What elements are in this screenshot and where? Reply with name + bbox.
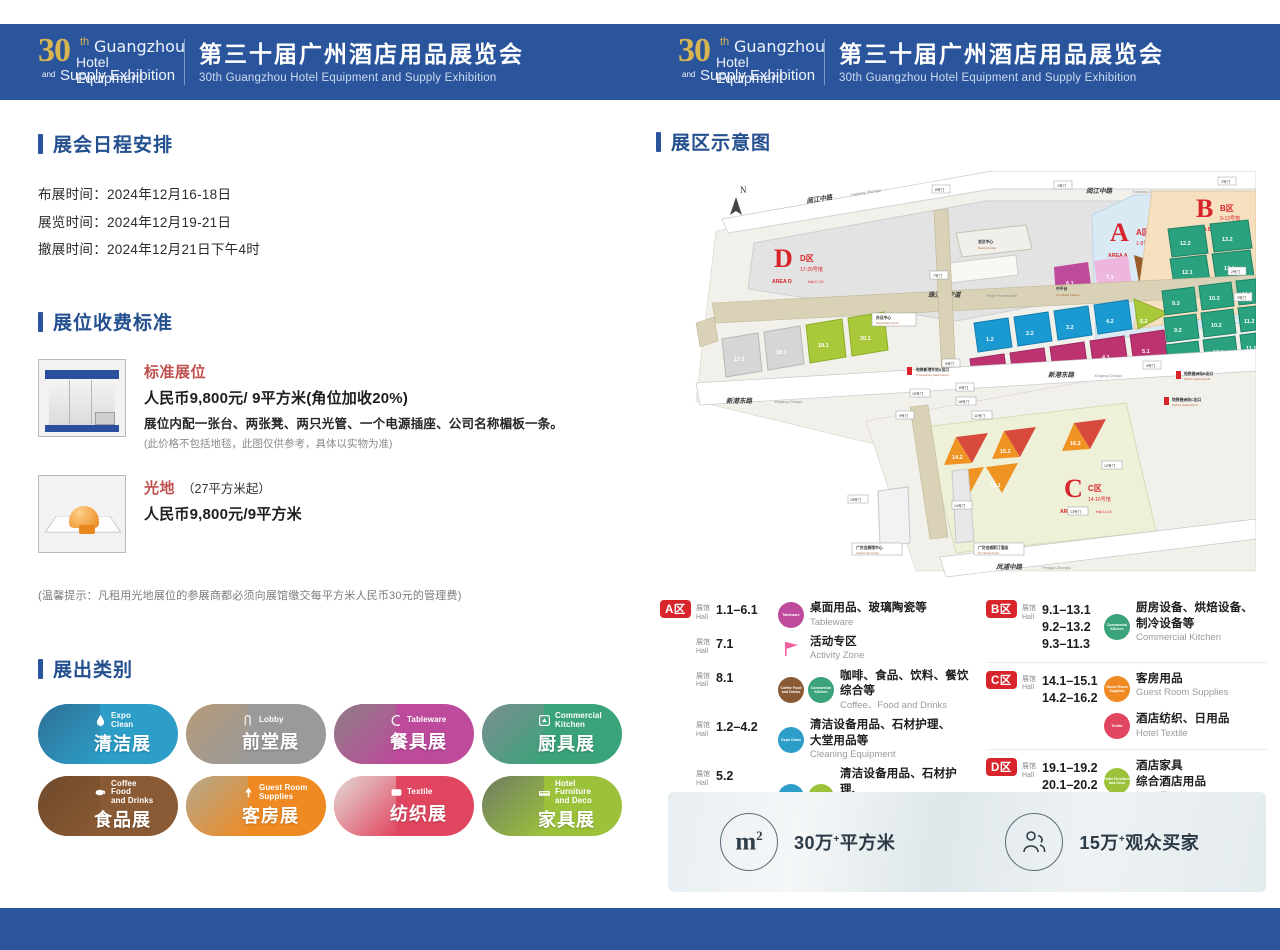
svg-text:15.2: 15.2 <box>1000 449 1011 455</box>
legend-desc-en: Commercial Kitchen <box>1136 632 1268 644</box>
category-text: Guest RoomSupplies客房展 <box>242 776 318 836</box>
svg-text:12号门: 12号门 <box>1104 463 1116 468</box>
svg-text:2号门: 2号门 <box>1231 269 1241 274</box>
schedule-row-show: 展览时间：2024年12月19-21日 <box>38 209 638 237</box>
standard-booth-price: 人民币9,800元/ 9平方米(角位加收20%) <box>144 387 563 408</box>
map-heading: 展区示意图 <box>656 128 1256 155</box>
category-label-en: Lobby <box>259 716 284 725</box>
exhibition-area-map[interactable]: .rd { fill:#ffffff; stroke:#c9c9c9; stro… <box>656 171 1256 581</box>
svg-text:5.1: 5.1 <box>1142 349 1150 355</box>
category-label-cn: 前堂展 <box>242 728 318 754</box>
plate-icon <box>390 714 403 727</box>
svg-text:13.2: 13.2 <box>1222 237 1233 243</box>
fee-item-standard-booth: 标准展位 人民币9,800元/ 9平方米(角位加收20%) 展位内配一张台、两张… <box>38 359 638 451</box>
svg-text:7.1: 7.1 <box>1106 275 1114 281</box>
raw-space-price: 人民币9,800元/9平方米 <box>144 503 302 524</box>
svg-text:会议中心: 会议中心 <box>978 239 993 244</box>
heading-accent-bar <box>656 132 661 152</box>
svg-text:AREA D: AREA D <box>772 279 792 285</box>
svg-text:16号门: 16号门 <box>958 399 970 404</box>
standard-booth-note: (此价格不包括地毯，此图仅供参考，具体以实物为准) <box>144 436 563 451</box>
legend-desc-cn: 桌面用品、玻璃陶瓷等 <box>810 601 978 617</box>
legend-hall-numbers: 14.1–15.114.2–16.2 <box>1042 672 1104 707</box>
svg-text:地铁琶洲站C出口: 地铁琶洲站C出口 <box>1172 397 1202 402</box>
svg-text:18.1: 18.1 <box>776 350 787 356</box>
svg-text:12.2: 12.2 <box>1180 241 1191 247</box>
svg-text:3号门: 3号门 <box>1237 295 1247 300</box>
zone-badge-text: A区 <box>660 600 691 618</box>
legend-desc-cn: 客房用品 <box>1136 672 1268 688</box>
zone-badge-text: D区 <box>986 758 1017 776</box>
droplet-icon <box>94 714 107 727</box>
raw-space-image <box>38 475 126 553</box>
logo-number: 30 <box>38 32 70 70</box>
svg-text:Hall 17-20: Hall 17-20 <box>808 280 824 284</box>
logo-line-supply-exhibition: Supply Exhibition <box>700 67 815 84</box>
legend-hall-label: 展馆Hall <box>696 601 716 629</box>
people-icon-svg <box>1019 827 1049 857</box>
legend-desc-en: Tableware <box>810 617 978 629</box>
zone-badge-text: C区 <box>986 671 1017 689</box>
category-text: ExpoClean清洁展 <box>94 704 170 764</box>
stat-area-label: 30万+平方米 <box>794 829 895 855</box>
heading-accent-bar <box>38 659 43 679</box>
svg-text:Meeting Center: Meeting Center <box>978 246 996 250</box>
header-brand-left: 30 th Guangzhou Hotel Equipment and Supp… <box>0 24 640 100</box>
fees-heading: 展位收费标准 <box>38 308 638 335</box>
svg-text:9号门: 9号门 <box>899 413 909 418</box>
legend-group-B区: B区展馆Hall9.1–13.19.2–13.29.3–11.3Commerci… <box>986 592 1268 662</box>
svg-text:8号门: 8号门 <box>935 187 945 192</box>
svg-text:广交会展馆中心: 广交会展馆中心 <box>856 545 883 550</box>
category-label-en: Guest RoomSupplies <box>259 784 308 801</box>
svg-text:Pazhou Station Exit C: Pazhou Station Exit C <box>1172 403 1198 407</box>
svg-text:Xingang Donglu: Xingang Donglu <box>773 399 803 404</box>
legend-row: 展馆Hall1.1–6.1Tableware桌面用品、玻璃陶瓷等Tablewar… <box>696 598 978 632</box>
category-photo <box>38 776 100 836</box>
category-card-7[interactable]: Textile纺织展 <box>334 776 474 836</box>
category-card-5[interactable]: CoffeeFoodand Drinks食品展 <box>38 776 178 836</box>
category-photo <box>482 704 544 764</box>
exhibition-logo-left: 30 th Guangzhou Hotel Equipment and Supp… <box>38 34 178 90</box>
stats-banner: m2 30万+平方米 15万+观众买家 <box>668 792 1266 892</box>
category-photo <box>334 776 396 836</box>
header-title-cn: 第三十届广州酒店用品展览会 <box>199 40 524 69</box>
category-text: CoffeeFoodand Drinks食品展 <box>94 776 170 836</box>
m2-icon-text: m2 <box>735 828 762 856</box>
standard-booth-image <box>38 359 126 437</box>
svg-text:6号门: 6号门 <box>959 385 969 390</box>
legend-hall-numbers: 7.1 <box>716 635 778 663</box>
category-photo <box>482 776 544 836</box>
svg-text:11.2: 11.2 <box>1244 319 1254 325</box>
legend-hall-label <box>1022 712 1042 740</box>
right-column: 展区示意图 .rd { fill:#ffffff; stroke:#c9c9c9… <box>656 128 1256 581</box>
category-label-en: ExpoClean <box>111 712 133 729</box>
svg-text:新港东路: 新港东路 <box>726 397 754 405</box>
svg-text:9.3: 9.3 <box>1172 301 1180 307</box>
logo-line-supply-exhibition: Supply Exhibition <box>60 67 175 84</box>
legend-category-dot: Expo Clean <box>778 727 804 753</box>
svg-text:14.2: 14.2 <box>952 455 963 461</box>
schedule-row-setup: 布展时间：2024年12月16-18日 <box>38 181 638 209</box>
header-brand-right: 30 th Guangzhou Hotel Equipment and Supp… <box>640 24 1280 100</box>
category-photo <box>38 704 100 764</box>
svg-text:14-16号馆: 14-16号馆 <box>1088 496 1111 503</box>
svg-text:Registration Center: Registration Center <box>876 321 899 325</box>
legend-hall-numbers: 8.1 <box>716 669 778 712</box>
legend-row: 展馆Hall8.1Coffee Food and DrinksCommercia… <box>696 666 978 715</box>
bed-icon <box>538 786 551 799</box>
svg-text:The Westin Hotel: The Westin Hotel <box>978 551 999 555</box>
svg-text:Tropicaphong Station Exit A: Tropicaphong Station Exit A <box>916 373 949 377</box>
footer-bar <box>0 908 1280 950</box>
categories-heading-text: 展出类别 <box>53 655 133 682</box>
svg-text:12.1: 12.1 <box>1182 270 1193 276</box>
svg-text:A: A <box>1110 218 1129 247</box>
legend-zone-badge: C区 <box>986 669 1022 744</box>
category-label-cn: 家具展 <box>538 806 614 832</box>
standard-booth-desc: 展位内配一张台、两张凳、两只光管、一个电源插座、公司名称楣板一条。 <box>144 413 563 432</box>
legend-desc-cn: 酒店纺织、日用品 <box>1136 712 1268 728</box>
legend-row: 展馆Hall1.2–4.2Expo Clean清洁设备用品、石材护理、大堂用品等… <box>696 715 978 764</box>
left-column: 展会日程安排 布展时间：2024年12月16-18日 展览时间：2024年12月… <box>38 130 638 836</box>
legend-category-dot: Commercial Kitchen <box>1104 614 1130 640</box>
category-card-4[interactable]: CommercialKitchen厨具展 <box>482 704 622 764</box>
svg-text:13号门: 13号门 <box>1070 509 1082 514</box>
svg-text:中平台: 中平台 <box>1056 286 1068 291</box>
schedule-list: 布展时间：2024年12月16-18日 展览时间：2024年12月19-21日 … <box>38 181 638 264</box>
legend-hall-numbers <box>1042 712 1104 740</box>
category-text: CommercialKitchen厨具展 <box>538 704 614 764</box>
schedule-heading-text: 展会日程安排 <box>53 130 173 157</box>
svg-text:C: C <box>1064 474 1083 503</box>
exhibition-logo-right: 30 th Guangzhou Hotel Equipment and Supp… <box>678 34 818 90</box>
svg-text:1.2: 1.2 <box>986 337 994 343</box>
legend-row: 展馆Hall9.1–13.19.2–13.29.3–11.3Commercial… <box>1022 598 1268 656</box>
category-label-cn: 食品展 <box>94 806 170 832</box>
svg-text:14号门: 14号门 <box>954 503 966 508</box>
svg-text:19.1: 19.1 <box>818 343 829 349</box>
legend-desc-cn: 厨房设备、烘焙设备、制冷设备等 <box>1136 601 1268 632</box>
page-header: 30 th Guangzhou Hotel Equipment and Supp… <box>0 24 1280 100</box>
legend-desc-en: Cleaning Equipment <box>810 749 978 761</box>
svg-text:16.2: 16.2 <box>1070 441 1081 447</box>
fees-management-tip: (温馨提示：凡租用光地展位的参展商都必须向展馆缴交每平方米人民币30元的管理费) <box>38 587 638 603</box>
compass-icon: N <box>730 185 747 215</box>
legend-hall-label: 展馆Hall <box>696 718 716 761</box>
legend-row: 展馆Hall14.1–15.114.2–16.2Guest Room Suppl… <box>1022 669 1268 710</box>
legend-hall-numbers: 9.1–13.19.2–13.29.3–11.3 <box>1042 601 1104 653</box>
svg-text:17-20号馆: 17-20号馆 <box>800 266 823 273</box>
raw-space-min-area: （27平方米起） <box>182 482 271 496</box>
heading-accent-bar <box>38 134 43 154</box>
svg-text:1号门: 1号门 <box>1057 183 1067 188</box>
svg-text:15.1: 15.1 <box>990 483 1001 489</box>
svg-text:3.2: 3.2 <box>1066 325 1074 331</box>
category-card-2[interactable]: Lobby前堂展 <box>186 704 326 764</box>
stat-area: m2 30万+平方米 <box>720 813 895 871</box>
legend-category-dot: Coffee Food and Drinks <box>778 677 804 703</box>
svg-text:广交会威斯汀酒店: 广交会威斯汀酒店 <box>978 545 1009 550</box>
logo-line-and: and <box>682 70 695 79</box>
legend-desc-en: Activity Zone <box>810 650 978 662</box>
svg-text:办证中心: 办证中心 <box>876 315 891 320</box>
standard-booth-name: 标准展位 <box>144 361 206 382</box>
header-title-en: 30th Guangzhou Hotel Equipment and Suppl… <box>839 72 1164 84</box>
category-grid: ExpoClean清洁展Lobby前堂展Tableware餐具展Commerci… <box>38 704 638 836</box>
svg-text:Fengpu Zhonglu: Fengpu Zhonglu <box>1042 565 1072 570</box>
top-white-bar <box>0 0 1280 24</box>
legend-hall-numbers: 1.2–4.2 <box>716 718 778 761</box>
svg-text:10号门: 10号门 <box>912 391 924 396</box>
svg-text:2.2: 2.2 <box>1026 331 1034 337</box>
category-photo <box>186 704 248 764</box>
category-label-en: HotelFurnitureand Deco <box>555 780 592 806</box>
category-photo <box>186 776 248 836</box>
svg-text:D: D <box>774 244 793 273</box>
legend-group-C区: C区展馆Hall14.1–15.114.2–16.2Guest Room Sup… <box>986 662 1268 750</box>
svg-text:C区: C区 <box>1088 484 1102 493</box>
legend-category-dot: Tableware <box>778 602 804 628</box>
stat-visitors: 15万+观众买家 <box>1005 813 1199 871</box>
category-card-6[interactable]: Guest RoomSupplies客房展 <box>186 776 326 836</box>
category-label-en: CommercialKitchen <box>555 712 602 729</box>
svg-text:17.1: 17.1 <box>734 357 745 363</box>
legend-category-dot: Guest Room Supplies <box>1104 676 1130 702</box>
schedule-row-teardown: 撤展时间：2024年12月21日下午4时 <box>38 236 638 264</box>
legend-desc-cn: 咖啡、食品、饮料、餐饮综合等 <box>840 669 978 700</box>
svg-text:阅江中路: 阅江中路 <box>1086 187 1114 195</box>
logo-ordinal-suffix: th <box>80 36 89 48</box>
category-text: Tableware餐具展 <box>390 704 466 764</box>
legend-desc-cn: 活动专区 <box>810 635 978 651</box>
lamp-icon <box>242 786 255 799</box>
svg-text:凤浦中路: 凤浦中路 <box>995 563 1024 571</box>
svg-text:新港东路: 新港东路 <box>1048 371 1076 379</box>
category-card-1[interactable]: ExpoClean清洁展 <box>38 704 178 764</box>
legend-row: Textile酒店纺织、日用品Hotel Textile <box>1022 709 1268 743</box>
svg-text:The Middle Platform: The Middle Platform <box>1056 293 1081 297</box>
legend-hall-label: 展馆Hall <box>696 669 716 712</box>
svg-text:D区: D区 <box>800 254 814 263</box>
legend-desc-cn: 酒店家具综合酒店用品 <box>1136 759 1268 790</box>
svg-text:Canton Fair Center: Canton Fair Center <box>856 551 879 555</box>
category-card-8[interactable]: HotelFurnitureand Deco家具展 <box>482 776 622 836</box>
category-text: Lobby前堂展 <box>242 704 318 764</box>
raw-space-name: 光地 <box>144 477 175 498</box>
luggage-cart-icon <box>242 714 255 727</box>
m2-icon: m2 <box>720 813 778 871</box>
stat-visitors-label: 15万+观众买家 <box>1079 829 1199 855</box>
zone-badge-text: B区 <box>986 600 1017 618</box>
header-title-en: 30th Guangzhou Hotel Equipment and Suppl… <box>199 72 524 84</box>
svg-text:10.3: 10.3 <box>1209 296 1220 302</box>
map-heading-text: 展区示意图 <box>671 128 771 155</box>
category-photo <box>334 704 396 764</box>
fee-item-raw-space: 光地（27平方米起） 人民币9,800元/9平方米 <box>38 475 638 553</box>
legend-category-dot <box>778 636 804 662</box>
category-text: Textile纺织展 <box>390 776 466 836</box>
svg-text:10.2: 10.2 <box>1211 323 1222 329</box>
map-svg[interactable]: .rd { fill:#ffffff; stroke:#c9c9c9; stro… <box>656 171 1256 581</box>
category-label-cn: 餐具展 <box>390 728 466 754</box>
category-label-cn: 纺织展 <box>390 800 466 826</box>
category-label-cn: 清洁展 <box>94 730 170 756</box>
legend-desc-en: Hotel Textile <box>1136 728 1268 740</box>
category-label-en: Textile <box>407 788 432 797</box>
legend-hall-label: 展馆Hall <box>1022 601 1042 653</box>
logo-number: 30 <box>678 32 710 70</box>
legend-category-dot: Commercial Kitchen <box>808 677 834 703</box>
towel-icon <box>390 786 403 799</box>
legend-desc-cn: 清洁设备用品、石材护理、大堂用品等 <box>810 718 978 749</box>
schedule-heading: 展会日程安排 <box>38 130 638 157</box>
svg-text:地铁琶洲站B出口: 地铁琶洲站B出口 <box>1184 371 1214 376</box>
legend-desc-en: Guest Room Supplies <box>1136 687 1268 699</box>
svg-text:2号门: 2号门 <box>1221 179 1231 184</box>
categories-heading: 展出类别 <box>38 655 638 682</box>
legend-hall-numbers: 1.1–6.1 <box>716 601 778 629</box>
svg-text:N: N <box>740 185 747 195</box>
svg-text:20.1: 20.1 <box>860 336 871 342</box>
heading-accent-bar <box>38 312 43 332</box>
category-label-en: Tableware <box>407 716 446 725</box>
svg-text:7号门: 7号门 <box>933 273 943 278</box>
legend-hall-label: 展馆Hall <box>696 635 716 663</box>
svg-text:Hall 14-16: Hall 14-16 <box>1096 510 1112 514</box>
svg-text:11号门: 11号门 <box>974 413 985 418</box>
legend-desc-en: Coffee、Food and Drinks <box>840 700 978 712</box>
svg-text:15号门: 15号门 <box>850 497 862 502</box>
svg-text:4.2: 4.2 <box>1106 319 1114 325</box>
category-card-3[interactable]: Tableware餐具展 <box>334 704 474 764</box>
svg-text:5号门: 5号门 <box>945 361 955 366</box>
legend-category-dot: Textile <box>1104 713 1130 739</box>
svg-text:5.2: 5.2 <box>1140 319 1148 325</box>
svg-text:B: B <box>1196 194 1213 223</box>
legend-zone-badge: B区 <box>986 598 1022 656</box>
svg-text:Xingang Donglu: Xingang Donglu <box>1093 373 1123 378</box>
category-label-en: CoffeeFoodand Drinks <box>111 780 153 806</box>
people-icon <box>1005 813 1063 871</box>
legend-row: 展馆Hall7.1活动专区Activity Zone <box>696 632 978 666</box>
category-label-cn: 厨具展 <box>538 730 614 756</box>
svg-text:地铁新港东站A出口: 地铁新港东站A出口 <box>916 367 949 372</box>
logo-line-and: and <box>42 70 55 79</box>
header-title-cn: 第三十届广州酒店用品展览会 <box>839 40 1164 69</box>
category-label-cn: 客房展 <box>242 802 318 828</box>
svg-text:9.2: 9.2 <box>1174 328 1182 334</box>
legend-category-dot: Hotel Furniture and Deco <box>1104 768 1130 794</box>
fees-heading-text: 展位收费标准 <box>53 308 173 335</box>
svg-text:4号门: 4号门 <box>1146 363 1156 368</box>
svg-text:Pazhou Station Exit B: Pazhou Station Exit B <box>1184 377 1210 381</box>
logo-ordinal-suffix: th <box>720 36 729 48</box>
coffee-icon <box>94 786 107 799</box>
svg-text:Pearl Promenade: Pearl Promenade <box>986 293 1018 298</box>
category-text: HotelFurnitureand Deco家具展 <box>538 776 614 836</box>
legend-hall-label: 展馆Hall <box>1022 672 1042 707</box>
kitchen-icon <box>538 714 551 727</box>
svg-text:B区: B区 <box>1220 204 1234 213</box>
